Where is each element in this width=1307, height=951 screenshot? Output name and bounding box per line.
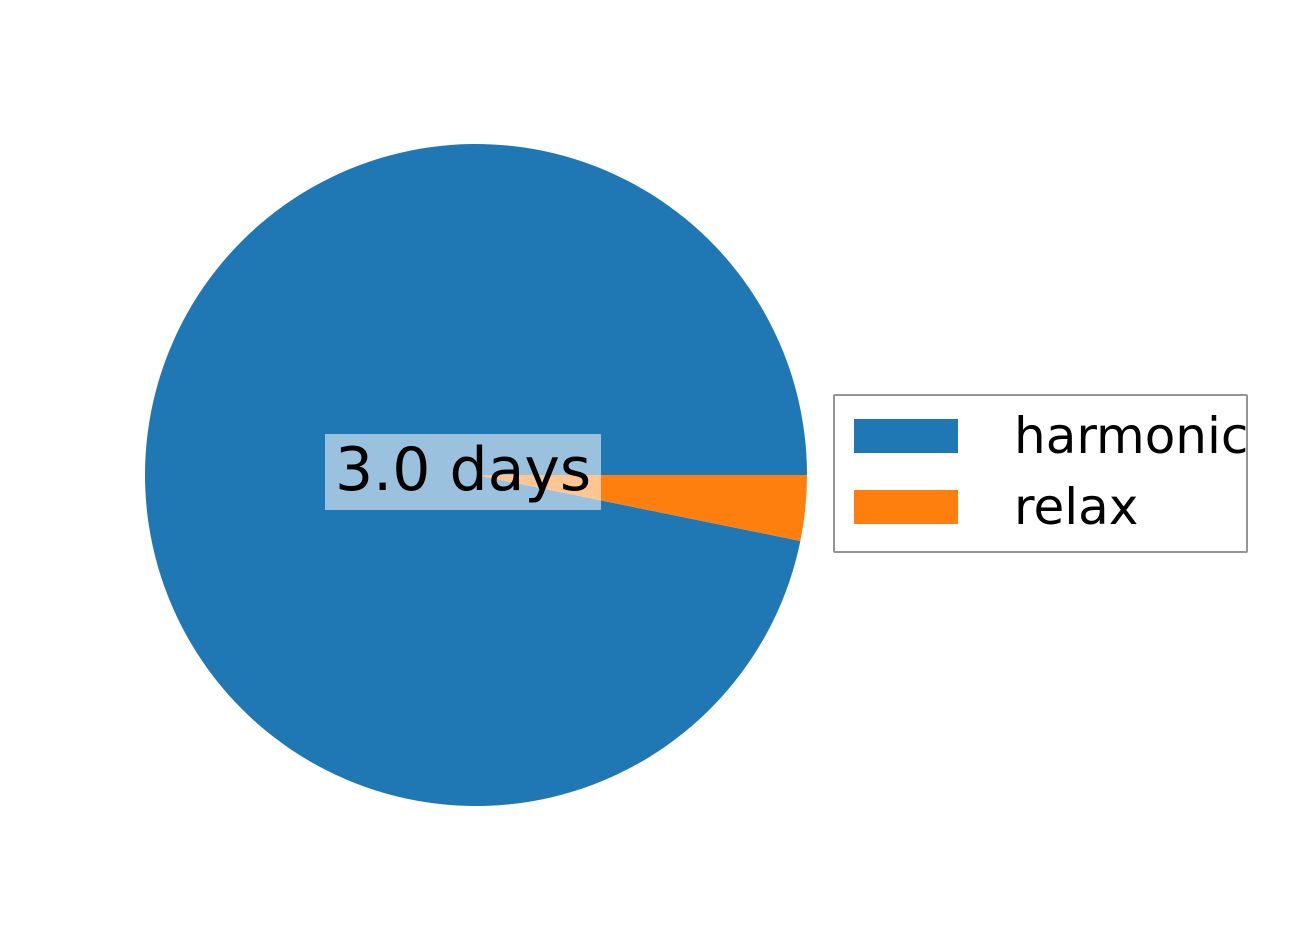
- legend: harmonic relax: [833, 394, 1248, 553]
- pie-wedge-label-harmonic: 3.0 days: [325, 434, 601, 510]
- pie-chart-figure: 3.0 days harmonic relax: [0, 0, 1307, 951]
- legend-color-swatch-harmonic: [854, 419, 958, 453]
- legend-label-harmonic: harmonic: [1014, 411, 1248, 461]
- legend-label-relax: relax: [1014, 482, 1138, 532]
- legend-color-swatch-relax: [854, 490, 958, 524]
